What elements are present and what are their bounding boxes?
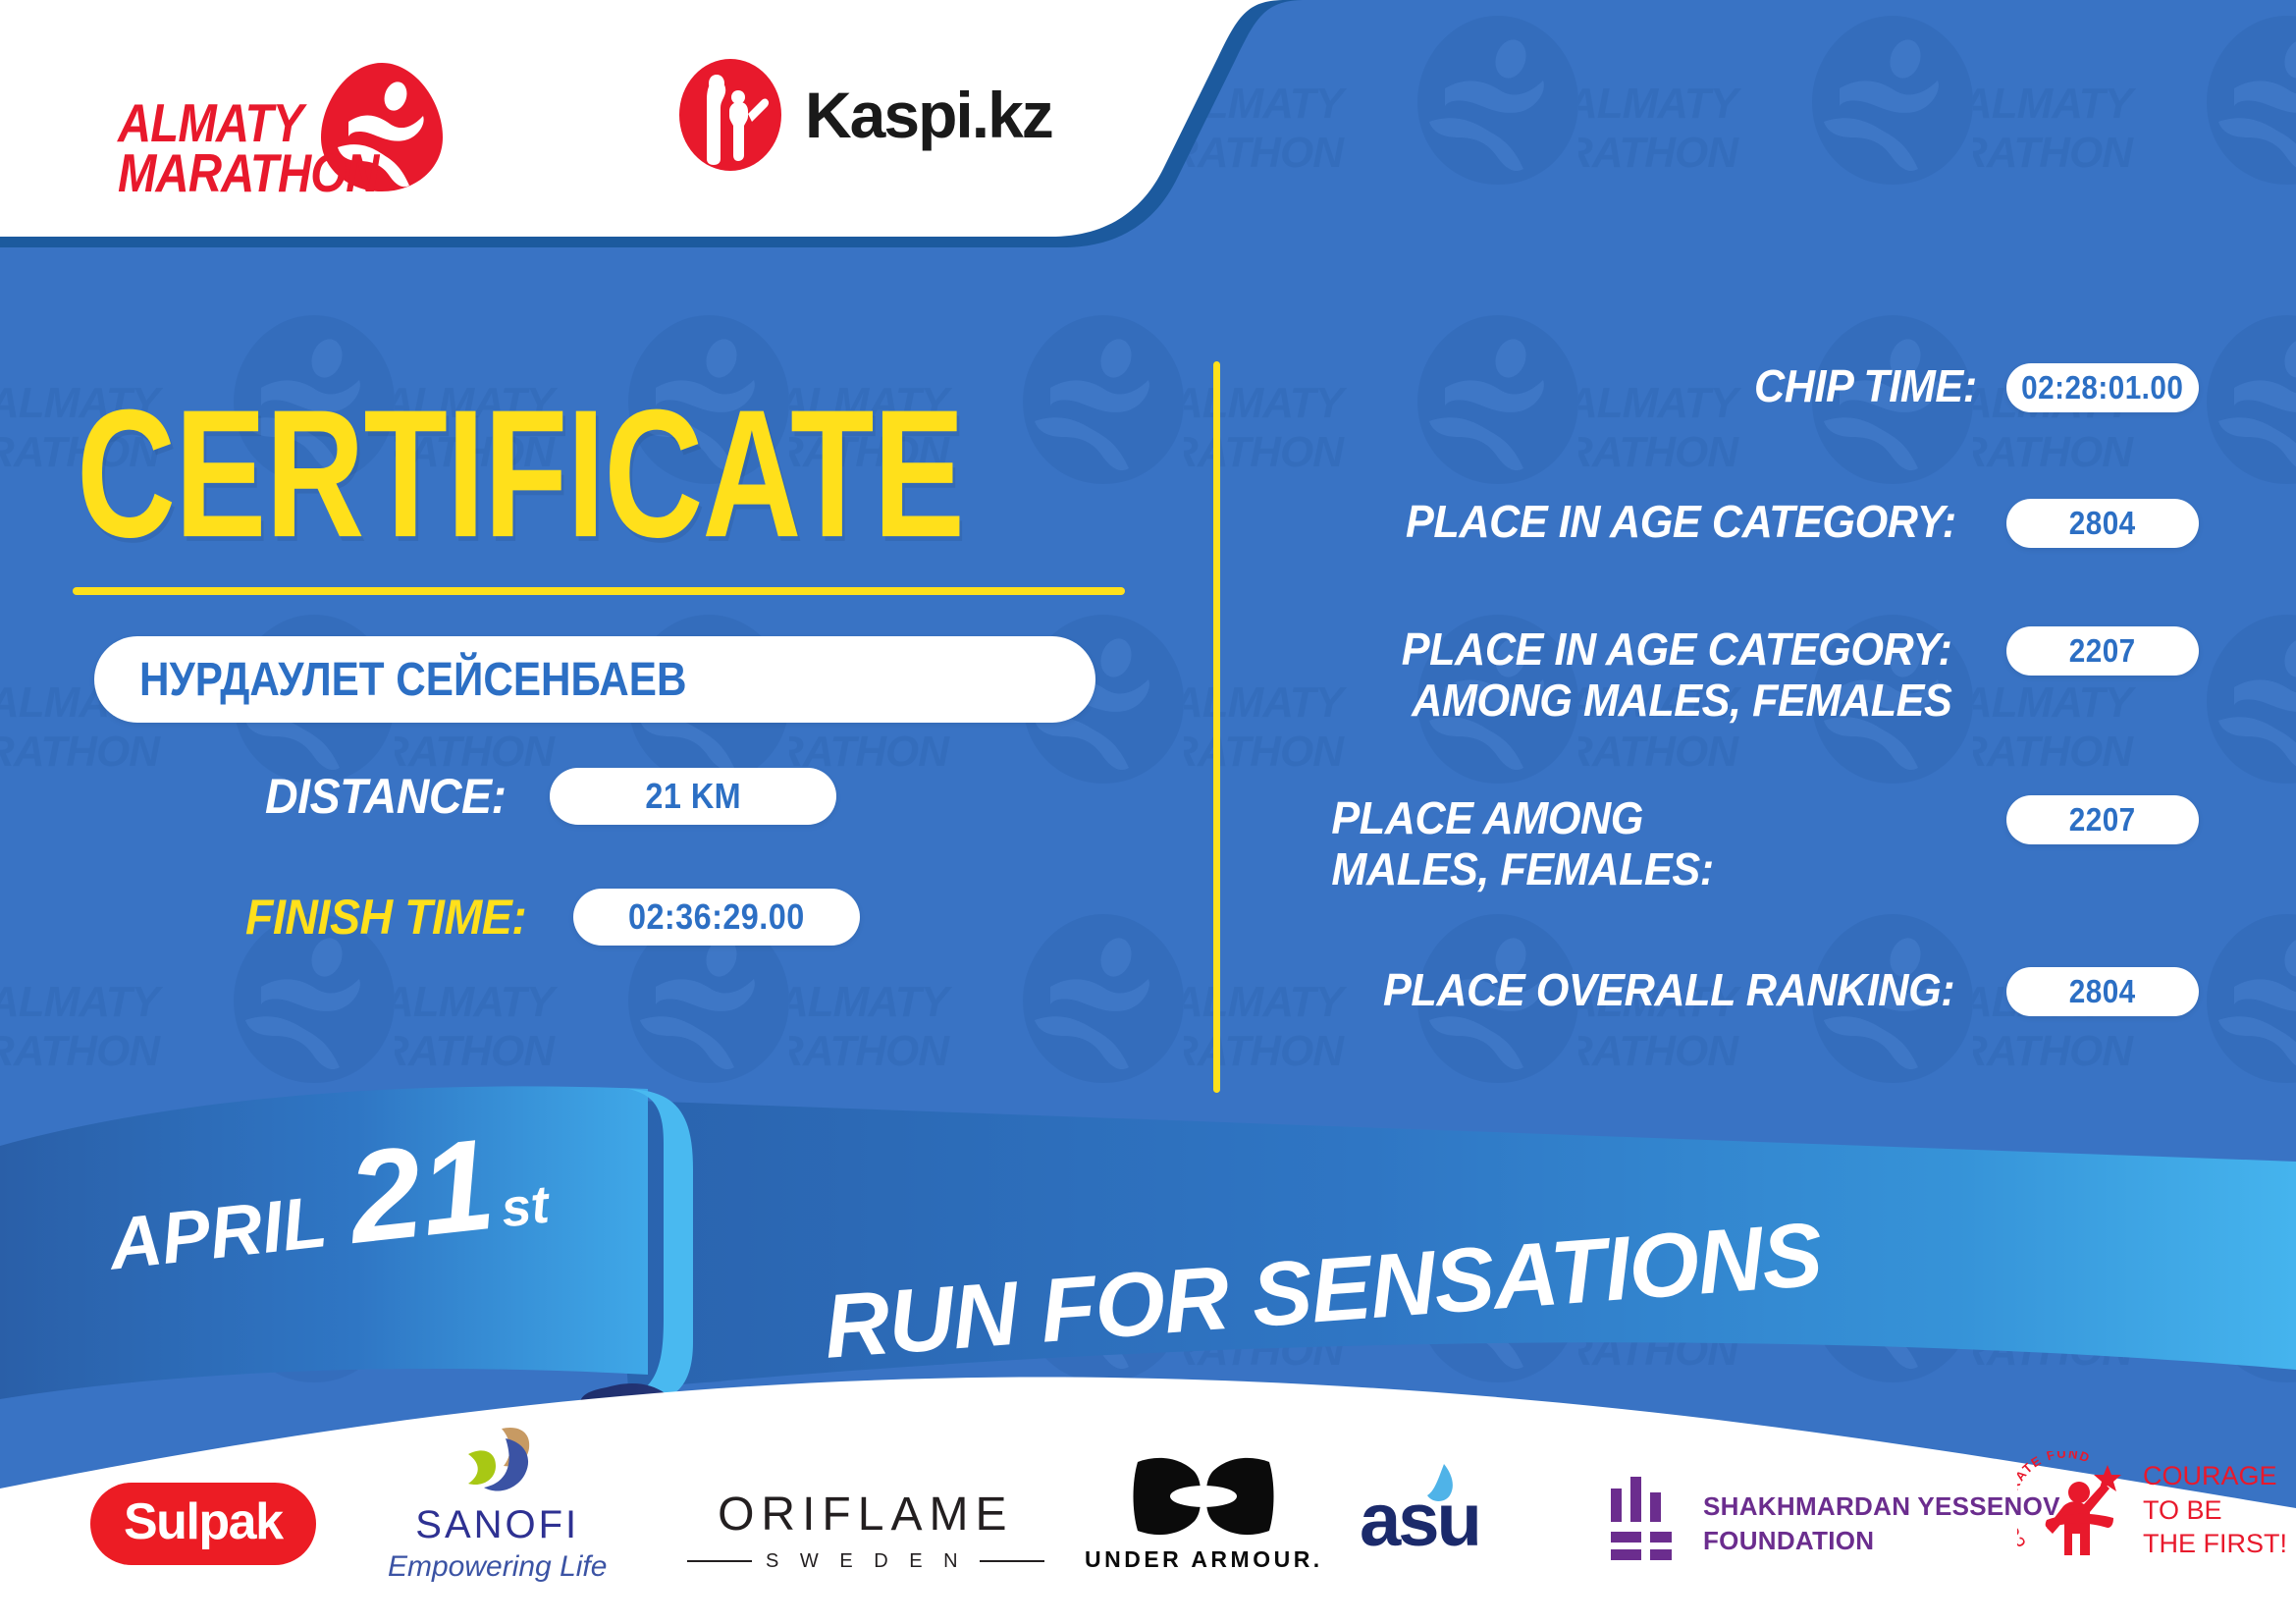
sulpak-wordmark: Sulpak bbox=[124, 1492, 283, 1551]
sponsor-asu: asu bbox=[1360, 1432, 1479, 1608]
finish-time-value-field: 02:36:29.00 bbox=[573, 889, 860, 946]
asu-drop-icon bbox=[1418, 1462, 1458, 1505]
sponsor-under-armour: UNDER ARMOUR. bbox=[1085, 1424, 1323, 1600]
yessenov-line1: SHAKHMARDAN YESSENOV bbox=[1703, 1489, 2060, 1524]
certificate-canvas: ALMATY MARATHON ALMATY MARATHON bbox=[0, 0, 2296, 1624]
courage-line2: TO BE bbox=[2143, 1493, 2287, 1528]
rule-left bbox=[687, 1560, 752, 1562]
sanofi-tagline: Empowering Life bbox=[388, 1550, 607, 1584]
distance-value: 21 KM bbox=[645, 776, 741, 817]
yessenov-line2: FOUNDATION bbox=[1703, 1524, 2060, 1558]
finish-time-row: FINISH TIME: 02:36:29.00 bbox=[245, 889, 860, 946]
courage-line1: COURAGE bbox=[2143, 1459, 2287, 1493]
result-value: 2207 bbox=[2069, 801, 2136, 839]
under-armour-icon bbox=[1130, 1452, 1277, 1541]
distance-value-field: 21 KM bbox=[550, 768, 836, 825]
header-logos: ALMATY MARATHON Kaspi.kz bbox=[0, 0, 1178, 285]
result-label: PLACE OVERALL RANKING: bbox=[1383, 965, 1954, 1016]
distance-label: DISTANCE: bbox=[265, 768, 507, 825]
yessenov-wordmark: SHAKHMARDAN YESSENOV FOUNDATION bbox=[1703, 1489, 2060, 1558]
result-label: PLACE IN AGE CATEGORY: bbox=[1406, 497, 1956, 548]
participant-name-value: НУРДАУЛЕТ СЕЙСЕНБАЕВ bbox=[139, 653, 686, 707]
sulpak-logo: Sulpak bbox=[90, 1483, 316, 1565]
finish-time-label: FINISH TIME: bbox=[245, 889, 526, 946]
almaty-marathon-logo: ALMATY MARATHON bbox=[118, 61, 442, 189]
sponsor-yessenov-foundation: SHAKHMARDAN YESSENOV FOUNDATION bbox=[1605, 1435, 2060, 1612]
result-value: 2804 bbox=[2069, 973, 2136, 1010]
yessenov-bars-icon bbox=[1605, 1475, 1682, 1573]
rule-right bbox=[980, 1560, 1044, 1562]
oriflame-wordmark: ORIFLAME bbox=[718, 1488, 1013, 1542]
result-value-field: 2207 bbox=[2006, 626, 2199, 676]
almaty-marathon-wordmark: ALMATY MARATHON bbox=[118, 98, 378, 197]
event-day: 21 bbox=[344, 1132, 498, 1251]
result-label: PLACE IN AGE CATEGORY: AMONG MALES, FEMA… bbox=[1343, 624, 1951, 726]
sanofi-wordmark: SANOFI bbox=[415, 1503, 579, 1547]
sanofi-icon bbox=[451, 1425, 545, 1499]
event-day-suffix: st bbox=[499, 1174, 552, 1240]
courage-runner-icon: CORPORATE FUND bbox=[2017, 1451, 2133, 1569]
sponsor-row: Sulpak SANOFI Empowering Life ORIFLAME S… bbox=[0, 1414, 2296, 1591]
result-label: PLACE AMONG MALES, FEMALES: bbox=[1276, 793, 1792, 894]
vertical-divider bbox=[1213, 361, 1220, 1093]
sponsor-courage-fund: CORPORATE FUND COURAGE TO BE THE FIRST! bbox=[2017, 1422, 2287, 1598]
result-label: CHIP TIME: bbox=[1754, 361, 1977, 412]
courage-line3: THE FIRST! bbox=[2143, 1527, 2287, 1561]
kaspi-family-icon bbox=[677, 57, 783, 173]
result-value-field: 2207 bbox=[2006, 795, 2199, 844]
result-value-field: 2804 bbox=[2006, 967, 2199, 1016]
title-underline bbox=[73, 587, 1125, 595]
sponsor-oriflame: ORIFLAME S W E D E N bbox=[687, 1441, 1044, 1618]
oriflame-country: S W E D E N bbox=[766, 1550, 966, 1573]
distance-row: DISTANCE: 21 KM bbox=[265, 768, 836, 825]
result-row-place-overall: PLACE OVERALL RANKING: 2804 bbox=[1276, 965, 2199, 1016]
result-row-chip-time: CHIP TIME: 02:28:01.00 bbox=[1276, 361, 2199, 412]
result-value: 2804 bbox=[2069, 505, 2136, 542]
result-value: 2207 bbox=[2069, 632, 2136, 670]
participant-name-field: НУРДАУЛЕТ СЕЙСЕНБАЕВ bbox=[94, 636, 1095, 723]
result-row-place-age-category-among: PLACE IN AGE CATEGORY: AMONG MALES, FEMA… bbox=[1276, 624, 2199, 726]
result-row-place-age-category: PLACE IN AGE CATEGORY: 2804 bbox=[1276, 497, 2199, 548]
oriflame-country-row: S W E D E N bbox=[687, 1550, 1044, 1573]
page-title: CERTIFICATE bbox=[77, 383, 964, 565]
result-value: 02:28:01.00 bbox=[2021, 369, 2183, 406]
almaty-line: ALMATY bbox=[118, 98, 378, 148]
kaspi-wordmark: Kaspi.kz bbox=[805, 78, 1052, 152]
kaspi-logo: Kaspi.kz bbox=[677, 61, 1090, 169]
courage-wordmark: COURAGE TO BE THE FIRST! bbox=[2143, 1459, 2287, 1561]
sponsor-sanofi: SANOFI Empowering Life bbox=[388, 1416, 607, 1593]
under-armour-wordmark: UNDER ARMOUR. bbox=[1085, 1546, 1323, 1573]
marathon-line: MARATHON bbox=[118, 148, 378, 198]
result-value-field: 2804 bbox=[2006, 499, 2199, 548]
result-row-place-among-males-females: PLACE AMONG MALES, FEMALES: 2207 bbox=[1276, 793, 2199, 894]
sponsor-sulpak: Sulpak bbox=[90, 1435, 316, 1612]
result-value-field: 02:28:01.00 bbox=[2006, 363, 2199, 412]
finish-time-value: 02:36:29.00 bbox=[628, 896, 805, 938]
